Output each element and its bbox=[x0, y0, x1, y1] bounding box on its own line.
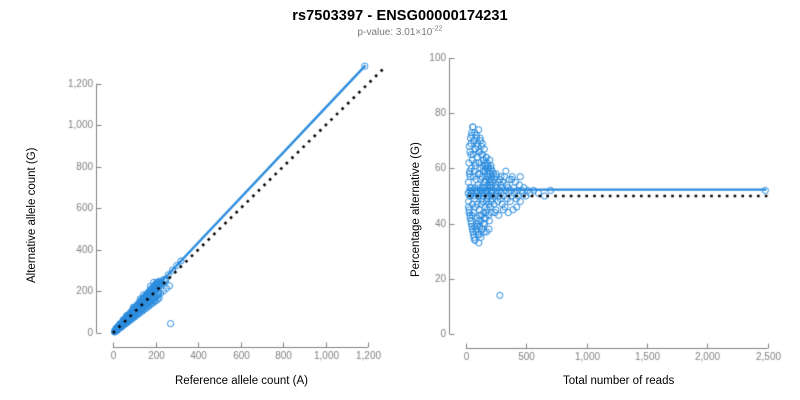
figure-container: rs7503397 - ENSG00000174231 p-value: 3.0… bbox=[0, 0, 800, 400]
scatter-plot-canvas bbox=[0, 0, 800, 400]
